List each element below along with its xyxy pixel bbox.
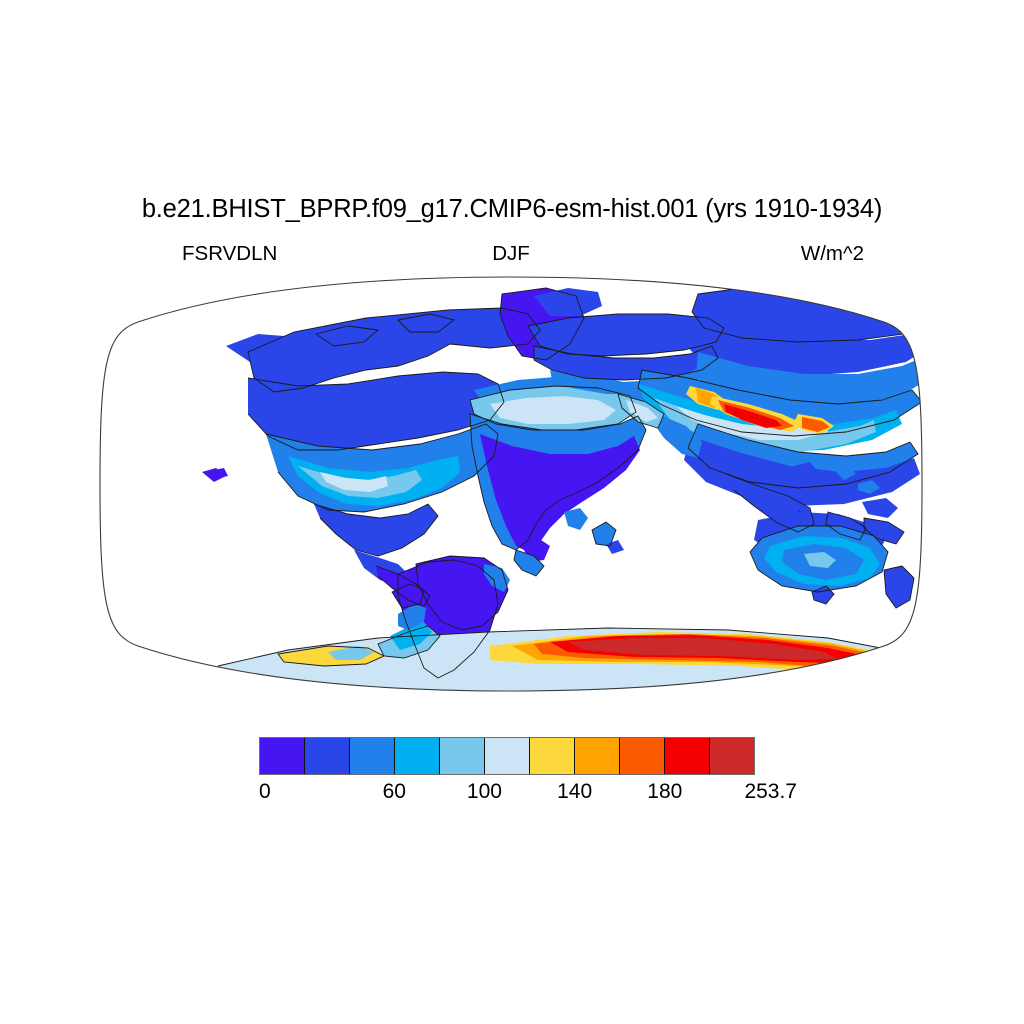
colorbar-cell [440, 738, 485, 774]
subtitle-row: FSRVDLN DJF W/m^2 [100, 241, 922, 267]
figure-canvas: b.e21.BHIST_BPRP.f09_g17.CMIP6-esm-hist.… [0, 0, 1024, 1024]
subtitle-units: W/m^2 [801, 241, 864, 267]
colorbar-tick-label: 140 [557, 779, 592, 805]
colorbar-tick-label: 100 [467, 779, 502, 805]
colorbar-cell [530, 738, 575, 774]
colorbar-tick-label: 253.7 [744, 779, 797, 805]
colorbar-cell [260, 738, 305, 774]
colorbar-cell [665, 738, 710, 774]
colorbar-cell [620, 738, 665, 774]
colorbar-cell [350, 738, 395, 774]
colorbar-tick-label: 60 [383, 779, 406, 805]
colorbar [259, 737, 755, 775]
colorbar-tick-labels: 060100140180253.7 [0, 779, 1024, 809]
map-plot-area [98, 274, 924, 694]
page-title: b.e21.BHIST_BPRP.f09_g17.CMIP6-esm-hist.… [0, 194, 1024, 224]
colorbar-cell [305, 738, 350, 774]
colorbar-tick-label: 180 [647, 779, 682, 805]
colorbar-tick-label: 0 [259, 779, 271, 805]
subtitle-season: DJF [100, 241, 922, 267]
colorbar-cell [710, 738, 754, 774]
colorbar-cell [485, 738, 530, 774]
colorbar-cell [575, 738, 620, 774]
colorbar-cell [395, 738, 440, 774]
world-map-svg [98, 274, 924, 694]
